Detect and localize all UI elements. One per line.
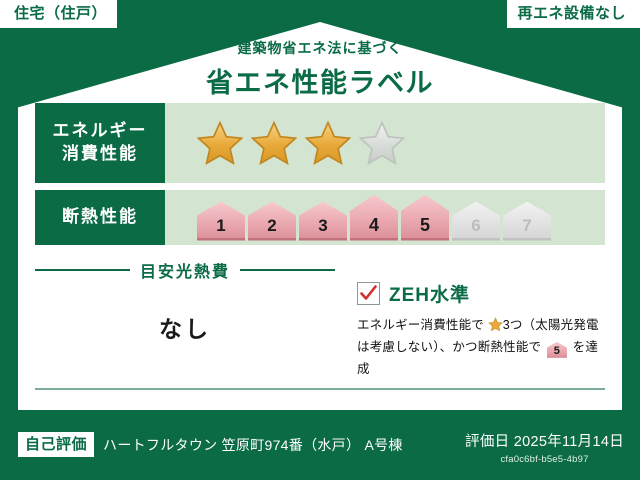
performance-panel: エネルギー 消費性能 断熱性能 1234567 [35,103,605,252]
rule-right [240,269,335,271]
property-name: ハートフルタウン 笠原町974番（水戸） A号棟 [103,435,403,455]
star-filled-icon [251,120,297,166]
energy-performance-label-line1: エネルギー [53,120,148,143]
energy-cost-heading-text: 目安光熱費 [140,258,230,282]
energy-cost-value: なし [35,310,335,344]
footer: 自己評価 ハートフルタウン 笠原町974番（水戸） A号棟 評価日 2025年1… [0,418,640,480]
badge-building-type: 住宅（住戸） [0,0,117,28]
inline-star-icon [488,317,503,332]
insulation-level-3: 3 [299,202,347,241]
energy-performance-row: エネルギー 消費性能 [35,103,605,183]
footer-left: 自己評価 ハートフルタウン 笠原町974番（水戸） A号棟 [18,432,403,457]
insulation-performance-label: 断熱性能 [35,190,165,245]
insulation-level-7: 7 [503,202,551,241]
star-empty-icon [359,120,405,166]
zeh-desc-part1: エネルギー消費性能で [357,318,484,332]
badge-renewable-energy: 再エネ設備なし [507,0,640,28]
rule-left [35,269,130,271]
insulation-level-1: 1 [197,202,245,241]
energy-cost-section: 目安光熱費 なし [35,258,335,381]
insulation-level-2: 2 [248,202,296,241]
zeh-heading: ZEH水準 [357,280,605,307]
footer-right: 評価日 2025年11月14日 cfa0c6bf-b5e5-4b97 [465,430,624,465]
lower-content: 目安光熱費 なし ZEH水準 エネルギー消費性能で [35,258,605,381]
star-filled-icon [197,120,243,166]
insulation-performance-row: 断熱性能 1234567 [35,190,605,245]
zeh-title: ZEH水準 [389,280,470,307]
energy-performance-label-line2: 消費性能 [62,143,138,166]
energy-performance-label: エネルギー 消費性能 [35,103,165,183]
evaluation-date: 評価日 2025年11月14日 [465,430,624,451]
insulation-level-4: 4 [350,195,398,241]
star-rating [165,103,605,183]
energy-performance-label: 住宅（住戸） 再エネ設備なし 建築物省エネ法に基づく 省エネ性能ラベル エネルギ… [0,0,640,480]
zeh-description: エネルギー消費性能で 3つ（太陽光発電 は考慮しない）、かつ断熱性能で 5 を達… [357,315,605,381]
page-title-block: 建築物省エネ法に基づく 省エネ性能ラベル [0,38,640,100]
section-divider [35,388,605,390]
insulation-level-scale: 1234567 [197,195,551,241]
inline-insulation-badge: 5 [547,342,567,358]
zeh-desc-star-count: 3つ（太陽光発電 [503,318,599,332]
insulation-level-6: 6 [452,202,500,241]
document-id: cfa0c6bf-b5e5-4b97 [465,454,624,465]
zeh-checkbox [357,282,380,305]
zeh-desc-part2: は考慮しない）、かつ断熱性能で [357,340,541,354]
star-filled-icon [305,120,351,166]
energy-cost-heading: 目安光熱費 [35,258,335,282]
page-title: 省エネ性能ラベル [0,61,640,100]
insulation-level-5: 5 [401,195,449,241]
self-evaluation-badge: 自己評価 [18,432,94,457]
zeh-section: ZEH水準 エネルギー消費性能で 3つ（太陽光発電 は考慮しない）、かつ断熱性能… [335,258,605,381]
heading-subtitle: 建築物省エネ法に基づく [0,38,640,58]
